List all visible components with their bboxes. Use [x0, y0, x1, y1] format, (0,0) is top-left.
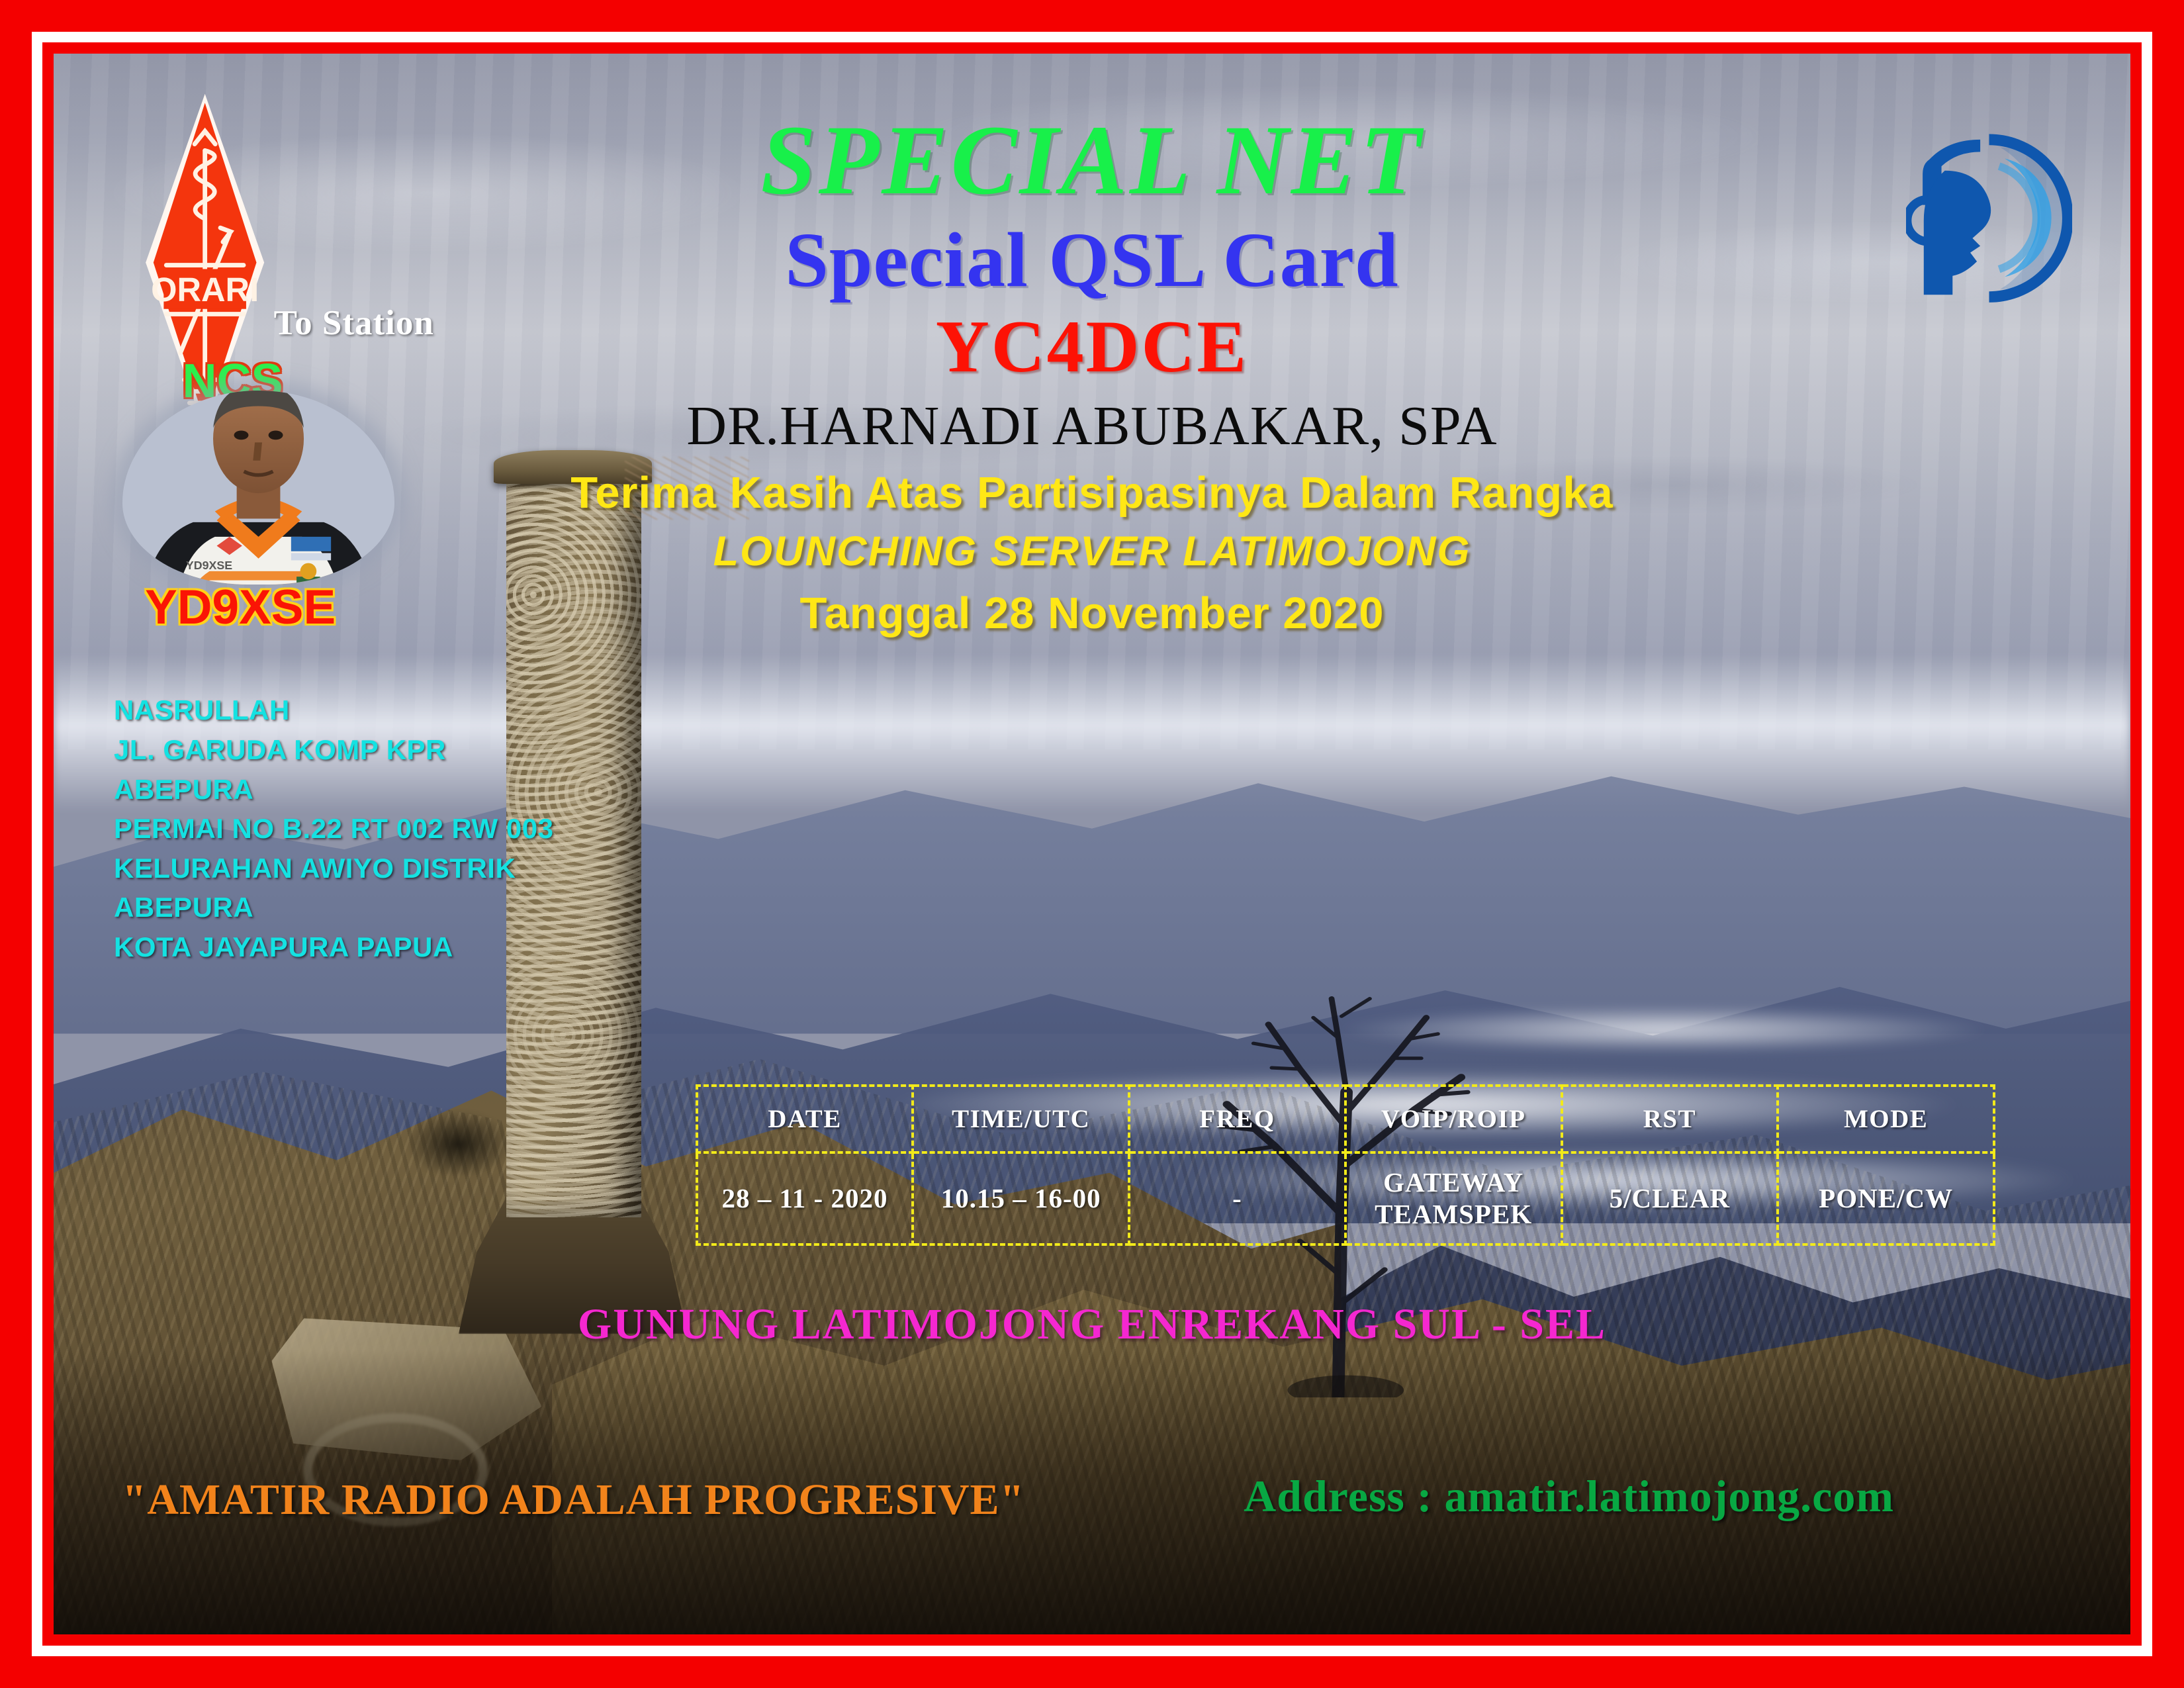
address-line: ABEPURA [114, 770, 654, 810]
address-line: NASRULLAH [114, 690, 654, 730]
header-date: DATE [697, 1086, 913, 1152]
motto-text: "AMATIR RADIO ADALAH PROGRESIVE" [122, 1475, 1025, 1525]
ncs-operator-photo: YD9XSE [122, 391, 394, 585]
qso-log-table: DATE TIME/UTC FREQ VOIP/ROIP RST MODE 28… [696, 1084, 1995, 1246]
header-voip-roip: VOIP/ROIP [1345, 1086, 1562, 1152]
recipient-callsign: YC4DCE [54, 310, 2130, 384]
svg-text:YD9XSE: YD9XSE [185, 559, 232, 572]
address-line: PERMAI NO B.22 RT 002 RW 003 [114, 809, 654, 849]
website-address: Address : amatir.latimojong.com [1244, 1470, 1894, 1523]
location-label: GUNUNG LATIMOJONG ENREKANG SUL - SEL [54, 1303, 2130, 1346]
page-subtitle: Special QSL Card [54, 221, 2130, 299]
mountain-photo-background: ORARI SPECIAL NET Special QSL [54, 54, 2130, 1634]
ncs-address-block: NASRULLAH JL. GARUDA KOMP KPR ABEPURA PE… [114, 690, 654, 966]
table-header-row: DATE TIME/UTC FREQ VOIP/ROIP RST MODE [697, 1086, 1994, 1152]
cell-time: 10.15 – 16-00 [913, 1152, 1129, 1244]
header-freq: FREQ [1129, 1086, 1345, 1152]
thanks-line-3: Tanggal 28 November 2020 [54, 591, 2130, 635]
address-line: JL. GARUDA KOMP KPR [114, 730, 654, 770]
cell-freq: - [1129, 1152, 1345, 1244]
header-time: TIME/UTC [913, 1086, 1129, 1152]
address-line: KELURAHAN AWIYO DISTRIK [114, 849, 654, 888]
cell-date: 28 – 11 - 2020 [697, 1152, 913, 1244]
table-row: 28 – 11 - 2020 10.15 – 16-00 - GATEWAY T… [697, 1152, 1994, 1244]
cell-rst: 5/CLEAR [1562, 1152, 1778, 1244]
header-rst: RST [1562, 1086, 1778, 1152]
qsl-card: ORARI SPECIAL NET Special QSL [0, 0, 2184, 1688]
address-line: ABEPURA [114, 888, 654, 927]
cell-voip-roip: GATEWAY TEAMSPEK [1345, 1152, 1562, 1244]
card-white-border: ORARI SPECIAL NET Special QSL [32, 32, 2152, 1656]
card-inner-red-border: ORARI SPECIAL NET Special QSL [42, 42, 2142, 1646]
cell-mode: PONE/CW [1778, 1152, 1994, 1244]
header-mode: MODE [1778, 1086, 1994, 1152]
ncs-callsign: YD9XSE [145, 580, 336, 635]
page-title: SPECIAL NET [54, 111, 2130, 210]
address-line: KOTA JAYAPURA PAPUA [114, 927, 654, 967]
